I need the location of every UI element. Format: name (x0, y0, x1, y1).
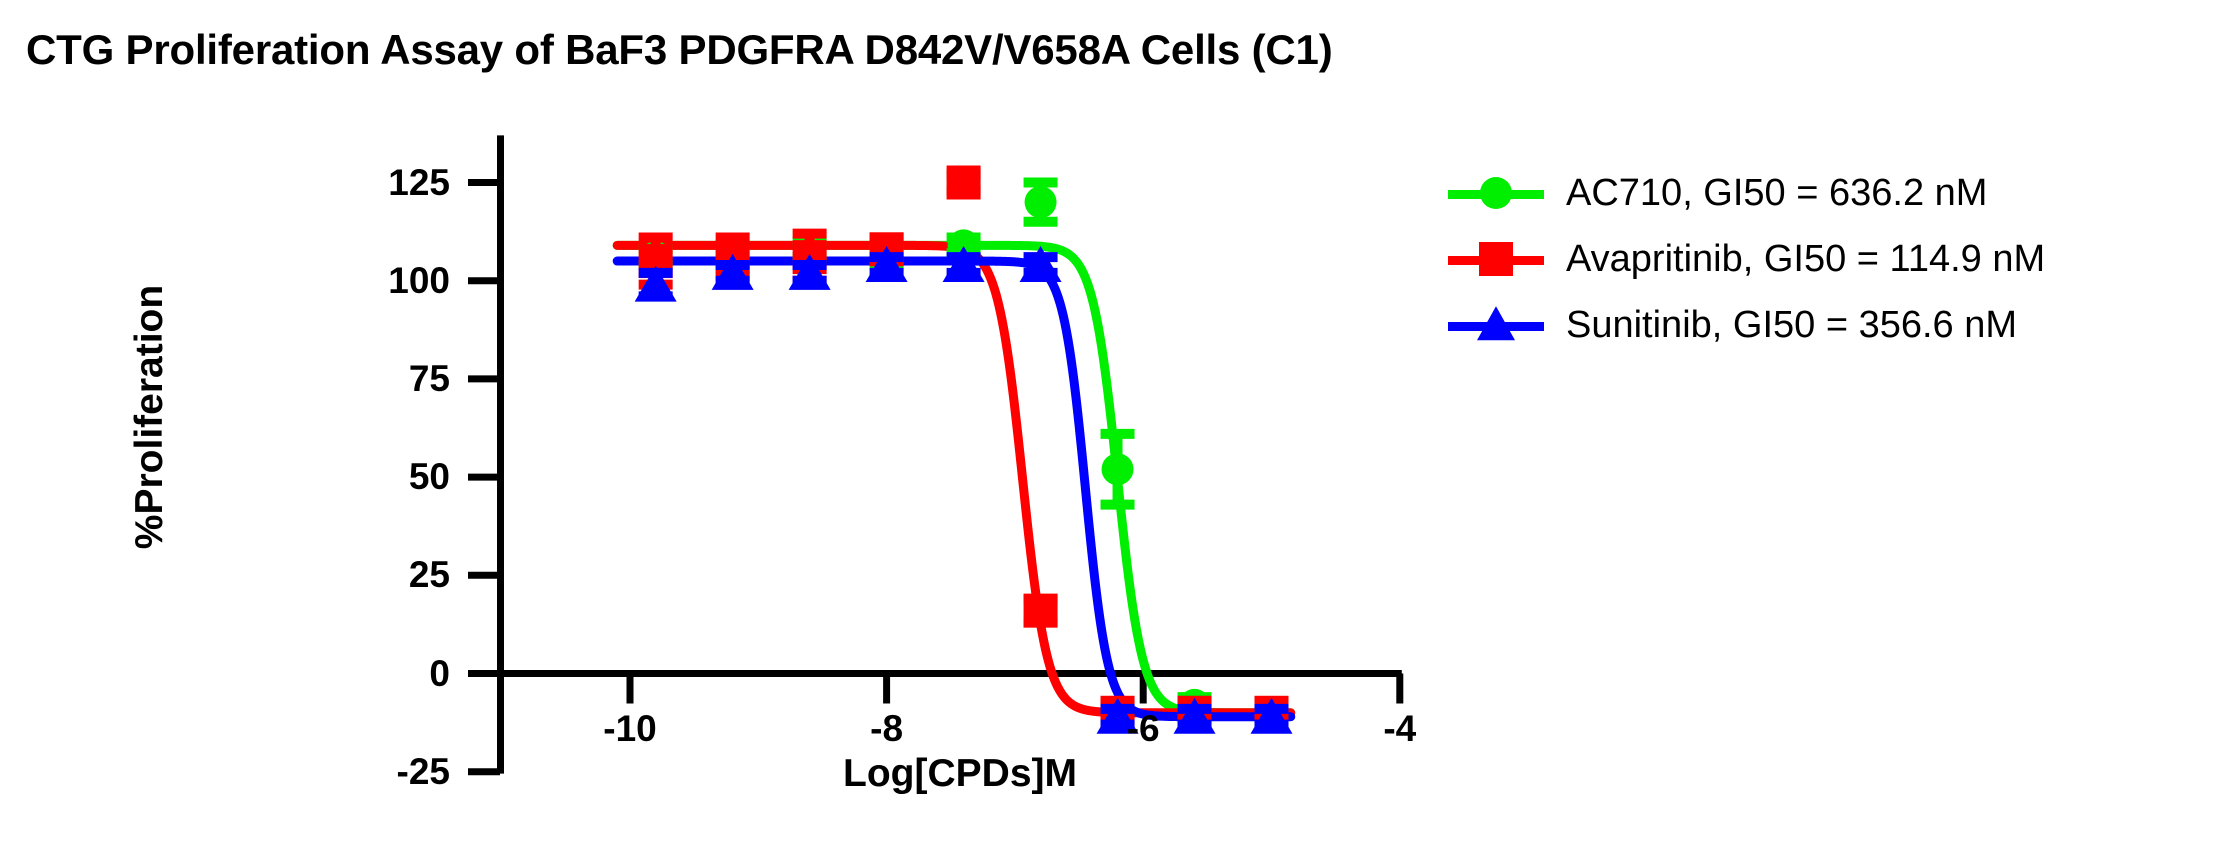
curves-layer (617, 245, 1291, 716)
series-curve-sunitinib (617, 261, 1291, 717)
y-axis-tick-label: 125 (310, 164, 450, 201)
x-axis-tick-label: -8 (827, 710, 947, 747)
legend-item-sunitinib[interactable]: Sunitinib, GI50 = 356.6 nM (1448, 292, 2045, 358)
y-axis-tick-label: 100 (310, 262, 450, 299)
y-axis-tick-label: 50 (310, 458, 450, 495)
data-point-marker (1024, 594, 1058, 628)
legend-key (1448, 305, 1544, 345)
y-axis-title: %Proliferation (128, 207, 172, 627)
axes-layer (468, 135, 1402, 773)
x-axis-tick-label: -6 (1083, 710, 1203, 747)
legend-marker-square-icon (1479, 242, 1513, 276)
legend-label: Avapritinib, GI50 = 114.9 nM (1566, 238, 2045, 281)
chart-figure: CTG Proliferation Assay of BaF3 PDGFRA D… (0, 0, 2231, 858)
y-axis-tick-label: 25 (310, 556, 450, 593)
legend-marker-circle-icon (1480, 177, 1512, 209)
x-axis-tick-label: -10 (570, 710, 690, 747)
series-curve-ac710 (617, 245, 1291, 712)
y-axis-tick-label: 75 (310, 360, 450, 397)
legend-key (1448, 239, 1544, 279)
data-points-layer (635, 166, 1293, 734)
chart-legend: AC710, GI50 = 636.2 nMAvapritinib, GI50 … (1448, 160, 2045, 358)
legend-key (1448, 173, 1544, 213)
y-axis-tick-label: -25 (310, 753, 450, 790)
legend-label: AC710, GI50 = 636.2 nM (1566, 172, 1987, 215)
legend-label: Sunitinib, GI50 = 356.6 nM (1566, 304, 2017, 347)
data-point-marker (1025, 186, 1057, 218)
x-axis-title: Log[CPDs]M (760, 752, 1160, 796)
legend-item-avapritinib[interactable]: Avapritinib, GI50 = 114.9 nM (1448, 226, 2045, 292)
y-axis-tick-label: 0 (310, 655, 450, 692)
x-axis-tick-label: -4 (1340, 710, 1460, 747)
data-point-marker (1102, 453, 1134, 485)
series-curve-avapritinib (617, 245, 1291, 712)
series-points-sunitinib (635, 246, 1293, 734)
data-point-marker (947, 166, 981, 200)
legend-marker-triangle-icon (1477, 306, 1515, 340)
legend-item-ac710[interactable]: AC710, GI50 = 636.2 nM (1448, 160, 2045, 226)
